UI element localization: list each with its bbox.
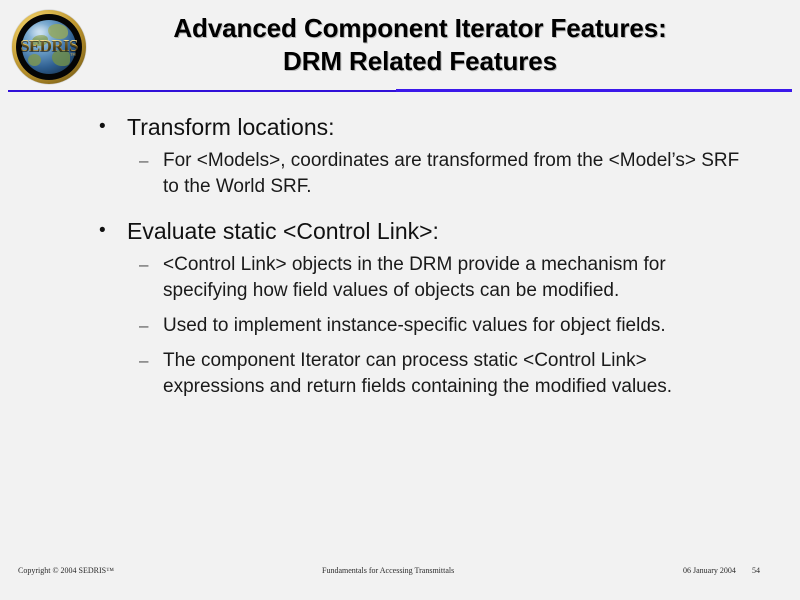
bullet-marker-icon: • (99, 216, 106, 246)
sub-bullet-item: – <Control Link> objects in the DRM prov… (0, 252, 800, 304)
dash-marker-icon: – (139, 148, 148, 174)
header-divider-left (8, 90, 397, 92)
bullet-item: • Transform locations: (0, 112, 800, 142)
sub-bullet-item: – Used to implement instance-specific va… (0, 313, 800, 339)
slide: SEDRIS ™ Advanced Component Iterator Fea… (0, 0, 800, 600)
logo-trademark-symbol: ™ (70, 53, 76, 59)
footer-date: 06 January 2004 (683, 566, 736, 575)
sedris-logo: SEDRIS ™ (7, 9, 91, 85)
footer-document-title: Fundamentals for Accessing Transmittals (322, 566, 454, 575)
dash-marker-icon: – (139, 348, 148, 374)
bullet-marker-icon: • (99, 112, 106, 142)
bullet-label: Transform locations: (127, 114, 335, 140)
page-title-line-1: Advanced Component Iterator Features: (100, 12, 740, 45)
sub-bullet-label: The component Iterator can process stati… (163, 350, 672, 397)
dash-marker-icon: – (139, 313, 148, 339)
page-title: Advanced Component Iterator Features: DR… (100, 12, 740, 78)
sub-bullet-label: Used to implement instance-specific valu… (163, 315, 666, 336)
page-title-line-2: DRM Related Features (100, 45, 740, 78)
footer-page-number: 54 (752, 566, 760, 575)
sub-bullet-group: – <Control Link> objects in the DRM prov… (0, 252, 800, 400)
bullet-label: Evaluate static <Control Link>: (127, 218, 439, 244)
sub-bullet-item: – For <Models>, coordinates are transfor… (0, 148, 800, 200)
logo-wordmark: SEDRIS (7, 37, 91, 54)
header-divider-right (396, 89, 792, 92)
sub-bullet-item: – The component Iterator can process sta… (0, 348, 800, 400)
dash-marker-icon: – (139, 252, 148, 278)
footer-copyright: Copyright © 2004 SEDRIS™ (18, 566, 114, 575)
sub-bullet-label: For <Models>, coordinates are transforme… (163, 150, 739, 197)
slide-body: • Transform locations: – For <Models>, c… (0, 112, 800, 542)
bullet-item: • Evaluate static <Control Link>: (0, 216, 800, 246)
sub-bullet-group: – For <Models>, coordinates are transfor… (0, 148, 800, 200)
globe-landmass (28, 54, 41, 66)
sub-bullet-label: <Control Link> objects in the DRM provid… (163, 254, 666, 301)
slide-header: SEDRIS ™ Advanced Component Iterator Fea… (0, 0, 800, 92)
slide-footer: Copyright © 2004 SEDRIS™ Fundamentals fo… (0, 556, 800, 600)
